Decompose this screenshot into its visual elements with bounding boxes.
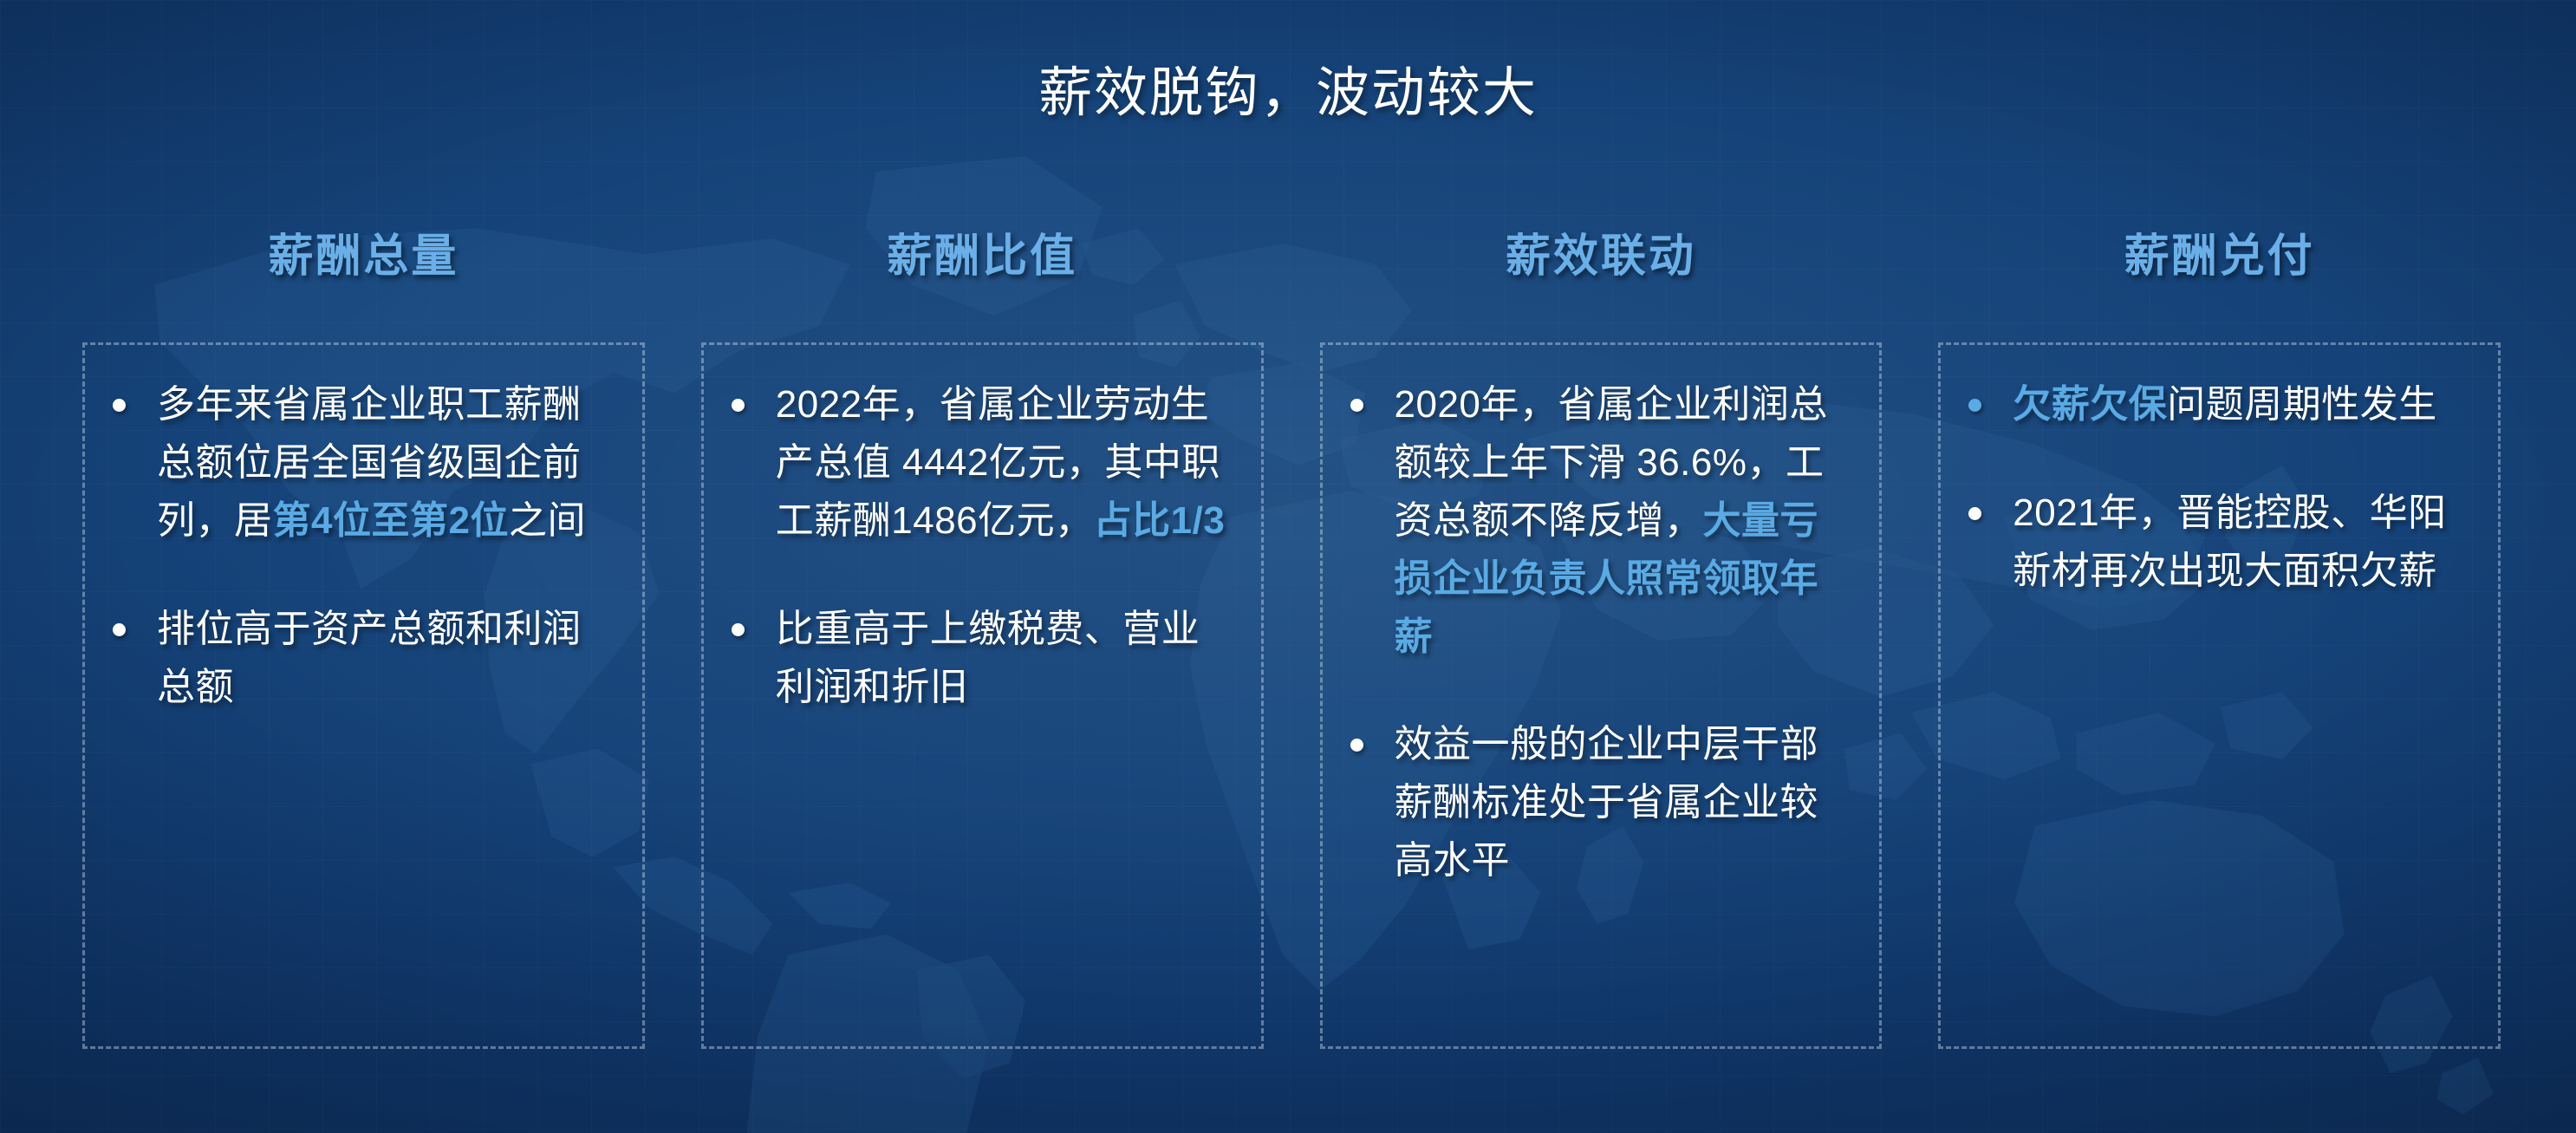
bullet-text: 比重高于上缴税费、营业利润和折旧 [776,601,1235,717]
bullet-text: 排位高于资产总额和利润总额 [157,601,616,717]
bullet-dot-icon [113,399,126,412]
column-box-4: 欠薪欠保问题周期性发生2021年，晋能控股、华阳新材再次出现大面积欠薪 [1938,342,2501,1049]
column-header-2: 薪酬比值 [701,217,1264,342]
plain-text: 比重高于上缴税费、营业利润和折旧 [776,608,1200,708]
column-1: 薪酬总量多年来省属企业职工薪酬总额位居全国省级国企前列，居第4位至第2位之间排位… [82,217,645,1049]
bullet-dot-icon [1968,507,1981,520]
bullet-text: 2021年，晋能控股、华阳新材再次出现大面积欠薪 [2013,485,2472,601]
bullet-dot-icon [732,623,745,636]
plain-text: 问题周期性发生 [2167,383,2437,426]
bullet-text: 效益一般的企业中层干部薪酬标准处于省属企业较高水平 [1395,716,1854,890]
bullet-text: 欠薪欠保问题周期性发生 [2013,376,2437,434]
column-4: 薪酬兑付欠薪欠保问题周期性发生2021年，晋能控股、华阳新材再次出现大面积欠薪 [1938,217,2501,1049]
column-header-3: 薪效联动 [1320,217,1883,342]
bullet-dot-icon [732,399,745,412]
highlighted-text: 欠薪欠保 [2013,383,2167,426]
plain-text: 排位高于资产总额和利润总额 [157,608,582,708]
list-item: 比重高于上缴税费、营业利润和折旧 [719,601,1235,717]
list-item: 2021年，晋能控股、华阳新材再次出现大面积欠薪 [1956,485,2472,601]
plain-text: 2021年，晋能控股、华阳新材再次出现大面积欠薪 [2013,492,2446,592]
list-item: 2022年，省属企业劳动生产总值 4442亿元，其中职工薪酬1486亿元，占比1… [719,376,1235,550]
bullet-dot-icon [1968,399,1981,412]
column-box-1: 多年来省属企业职工薪酬总额位居全国省级国企前列，居第4位至第2位之间排位高于资产… [82,342,645,1049]
column-box-2: 2022年，省属企业劳动生产总值 4442亿元，其中职工薪酬1486亿元，占比1… [701,342,1264,1049]
list-item: 排位高于资产总额和利润总额 [101,601,616,717]
column-3: 薪效联动2020年，省属企业利润总额较上年下滑 36.6%，工资总额不降反增，大… [1320,217,1883,1049]
list-item: 欠薪欠保问题周期性发生 [1956,376,2472,434]
plain-text: 之间 [509,499,586,542]
list-item: 效益一般的企业中层干部薪酬标准处于省属企业较高水平 [1338,716,1854,890]
page-title: 薪效脱钩，波动较大 [0,49,2576,127]
column-2: 薪酬比值2022年，省属企业劳动生产总值 4442亿元，其中职工薪酬1486亿元… [701,217,1264,1049]
list-item: 多年来省属企业职工薪酬总额位居全国省级国企前列，居第4位至第2位之间 [101,376,616,550]
columns-container: 薪酬总量多年来省属企业职工薪酬总额位居全国省级国企前列，居第4位至第2位之间排位… [82,217,2501,1049]
highlighted-text: 占比1/3 [1094,499,1226,542]
column-box-3: 2020年，省属企业利润总额较上年下滑 36.6%，工资总额不降反增，大量亏损企… [1320,342,1883,1049]
slide-root: 薪效脱钩，波动较大 薪酬总量多年来省属企业职工薪酬总额位居全国省级国企前列，居第… [0,0,2576,1133]
bullet-text: 2020年，省属企业利润总额较上年下滑 36.6%，工资总额不降反增，大量亏损企… [1395,376,1854,666]
bullet-text: 2022年，省属企业劳动生产总值 4442亿元，其中职工薪酬1486亿元，占比1… [776,376,1235,550]
column-header-4: 薪酬兑付 [1938,217,2501,342]
column-header-1: 薪酬总量 [82,217,645,342]
bullet-dot-icon [113,623,126,636]
plain-text: 效益一般的企业中层干部薪酬标准处于省属企业较高水平 [1395,723,1819,882]
bullet-text: 多年来省属企业职工薪酬总额位居全国省级国企前列，居第4位至第2位之间 [157,376,616,550]
bullet-dot-icon [1350,399,1363,412]
list-item: 2020年，省属企业利润总额较上年下滑 36.6%，工资总额不降反增，大量亏损企… [1338,376,1854,666]
highlighted-text: 第4位至第2位 [273,499,509,542]
bullet-dot-icon [1350,739,1363,752]
